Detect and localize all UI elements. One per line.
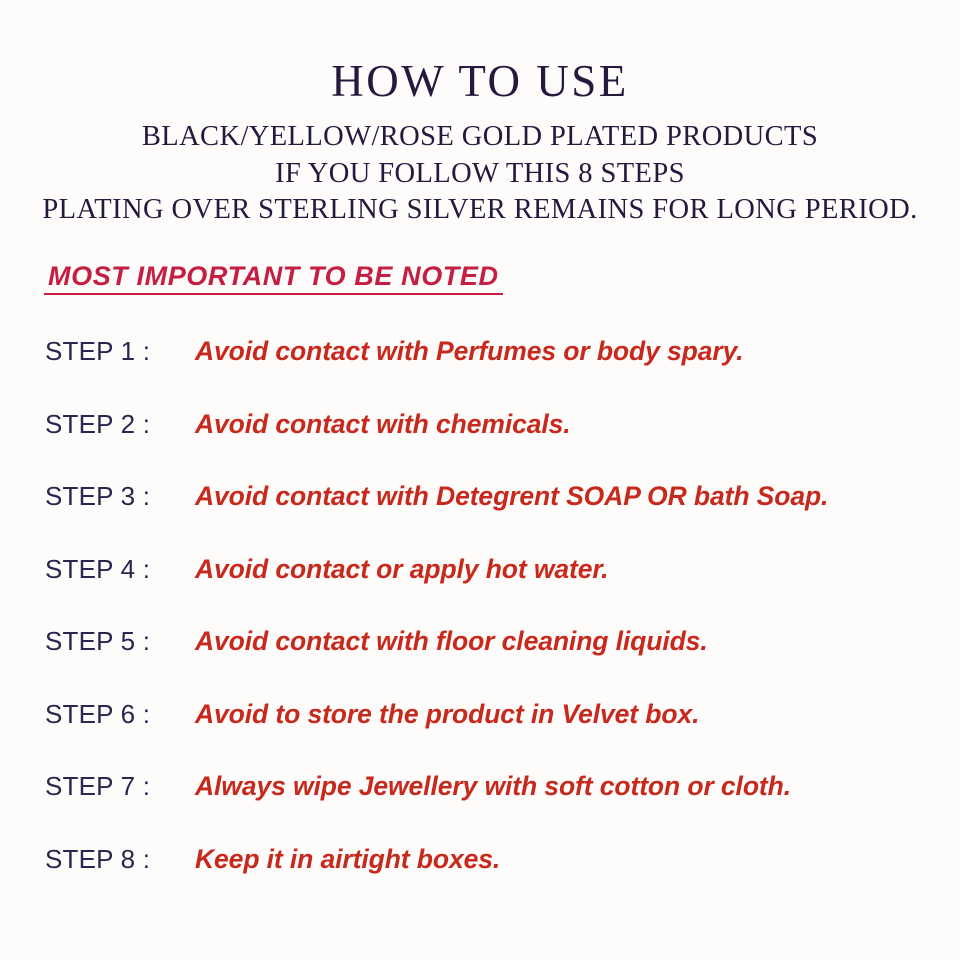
step-row: STEP 3 : Avoid contact with Detegrent SO… [0, 482, 960, 555]
notice-heading: MOST IMPORTANT TO BE NOTED [44, 262, 503, 295]
subtitle-line-products: BLACK/YELLOW/ROSE GOLD PLATED PRODUCTS [0, 119, 960, 155]
steps-list: STEP 1 : Avoid contact with Perfumes or … [0, 337, 960, 917]
step-row: STEP 1 : Avoid contact with Perfumes or … [0, 337, 960, 410]
subtitle-block: BLACK/YELLOW/ROSE GOLD PLATED PRODUCTS I… [0, 119, 960, 228]
step-text-6: Avoid to store the product in Velvet box… [195, 700, 699, 730]
subtitle-line-steps: IF YOU FOLLOW THIS 8 STEPS [0, 156, 960, 192]
step-text-2: Avoid contact with chemicals. [195, 410, 571, 440]
step-row: STEP 2 : Avoid contact with chemicals. [0, 410, 960, 483]
step-text-8: Keep it in airtight boxes. [195, 845, 500, 875]
notice-wrapper: MOST IMPORTANT TO BE NOTED [44, 262, 503, 295]
step-label-3: STEP 3 : [45, 482, 195, 511]
step-row: STEP 4 : Avoid contact or apply hot wate… [0, 555, 960, 628]
step-text-3: Avoid contact with Detegrent SOAP OR bat… [195, 482, 828, 512]
subtitle-line-plating: PLATING OVER STERLING SILVER REMAINS FOR… [0, 192, 960, 228]
step-row: STEP 8 : Keep it in airtight boxes. [0, 845, 960, 918]
step-text-4: Avoid contact or apply hot water. [195, 555, 608, 585]
step-row: STEP 6 : Avoid to store the product in V… [0, 700, 960, 773]
step-text-1: Avoid contact with Perfumes or body spar… [195, 337, 743, 367]
page-title: HOW TO USE [0, 58, 960, 105]
step-text-5: Avoid contact with floor cleaning liquid… [195, 627, 708, 657]
step-row: STEP 7 : Always wipe Jewellery with soft… [0, 772, 960, 845]
step-label-2: STEP 2 : [45, 410, 195, 439]
step-label-5: STEP 5 : [45, 627, 195, 656]
step-row: STEP 5 : Avoid contact with floor cleani… [0, 627, 960, 700]
step-label-7: STEP 7 : [45, 772, 195, 801]
step-label-8: STEP 8 : [45, 845, 195, 874]
step-label-4: STEP 4 : [45, 555, 195, 584]
header-block: HOW TO USE BLACK/YELLOW/ROSE GOLD PLATED… [0, 58, 960, 229]
how-to-use-poster: HOW TO USE BLACK/YELLOW/ROSE GOLD PLATED… [0, 0, 960, 960]
step-label-6: STEP 6 : [45, 700, 195, 729]
step-text-7: Always wipe Jewellery with soft cotton o… [195, 772, 791, 802]
step-label-1: STEP 1 : [45, 337, 195, 366]
